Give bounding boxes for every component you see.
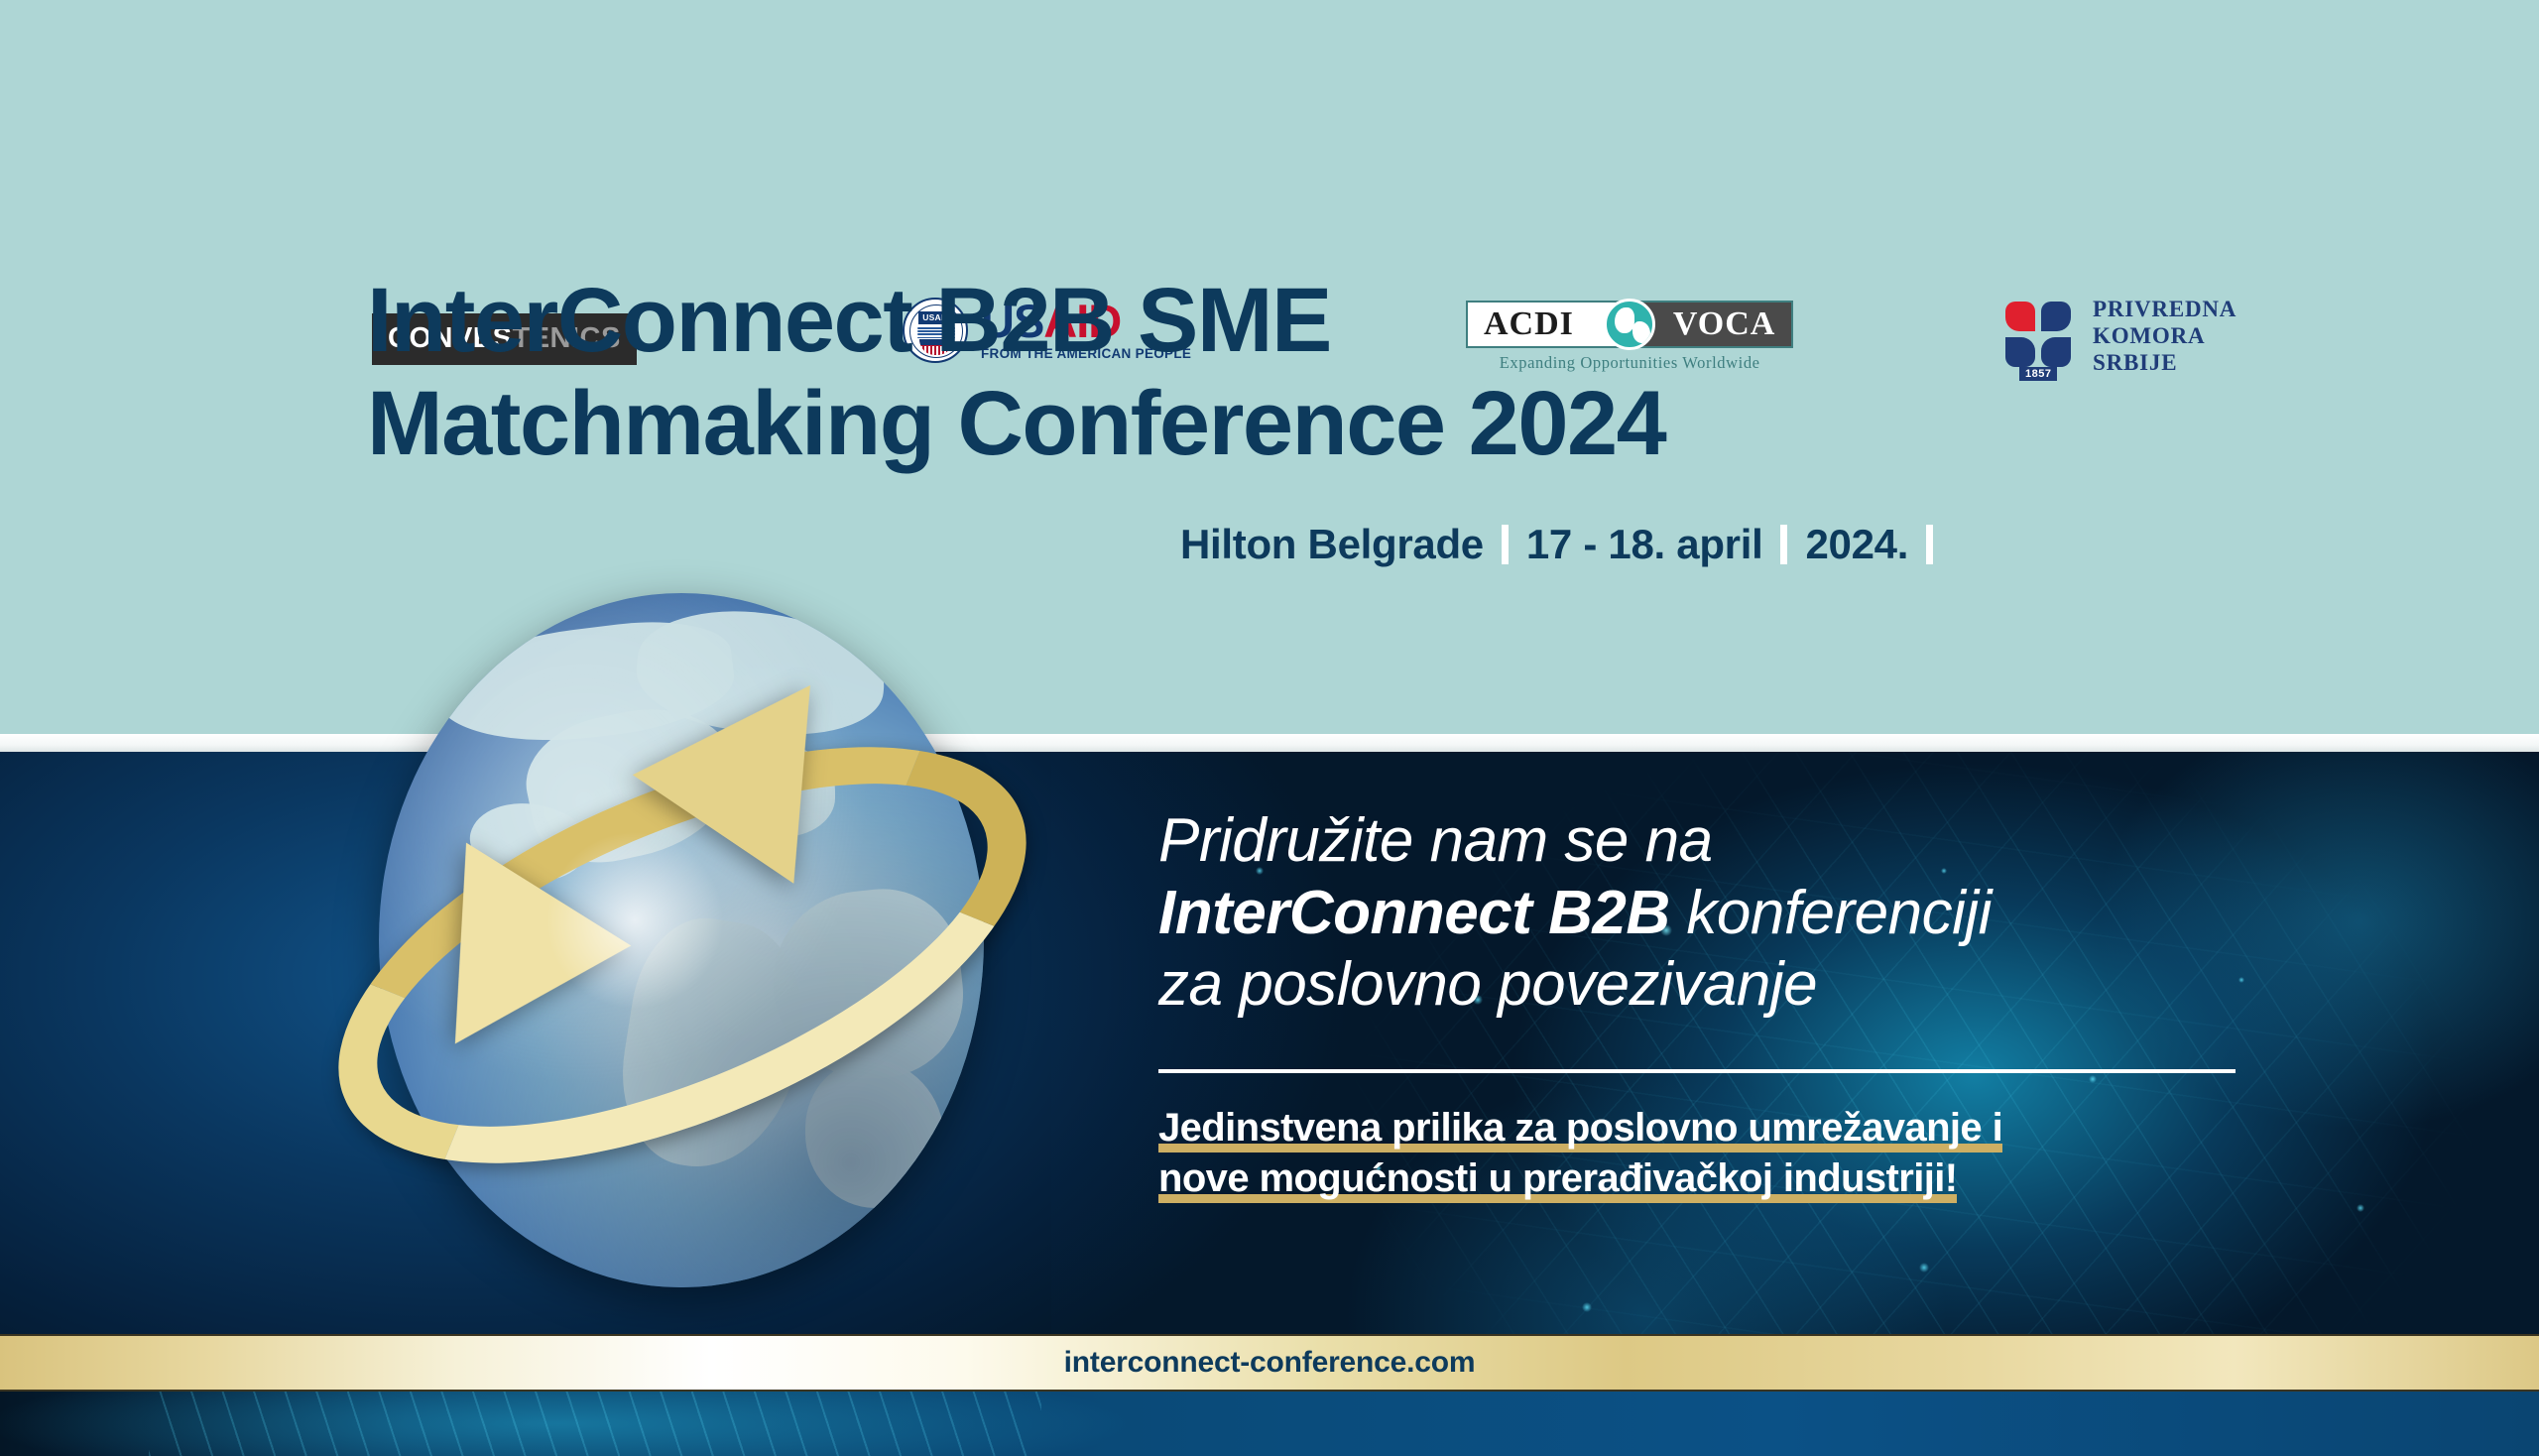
separator-1 [1502,525,1509,564]
event-year: 2024. [1805,521,1908,568]
event-title: InterConnect B2B SME Matchmaking Confere… [367,270,2251,476]
bottom-network-strip [0,1392,2539,1456]
event-venue: Hilton Belgrade [1180,521,1484,568]
highlight-tagline: Jedinstvena prilika za poslovno umrežava… [1158,1103,2349,1204]
sponsor-logo-row: CONVESTENICS USAID USAID FROM THE AMERIC… [0,147,2539,226]
website-band: interconnect-conference.com [0,1334,2539,1392]
separator-3 [1926,525,1933,564]
website-url[interactable]: interconnect-conference.com [1064,1346,1476,1380]
tagline-line-2: nove mogućnosti u prerađivačkoj industri… [1158,1153,1957,1204]
promo-text: Pridružite nam se na InterConnect B2B ko… [1158,805,2349,1022]
separator-2 [1780,525,1787,564]
promo-line-2-brand: InterConnect B2B [1158,879,1670,947]
conference-banner: CONVESTENICS USAID USAID FROM THE AMERIC… [0,0,2539,1456]
ribbon-sheen [545,831,724,1010]
event-details: Hilton Belgrade 17 - 18. april 2024. [1180,521,1951,568]
promo-line-2-rest: konferenciji [1670,879,1992,947]
promo-line-1: Pridružite nam se na [1158,805,2349,878]
event-title-line2: Matchmaking Conference 2024 [367,373,2251,476]
event-title-line1: InterConnect B2B SME [367,270,2251,373]
horizontal-rule [1158,1069,2236,1073]
event-dates: 17 - 18. april [1526,521,1763,568]
promo-line-3: za poslovno povezivanje [1158,949,2349,1022]
promo-line-2: InterConnect B2B konferenciji [1158,878,2349,950]
globe-graphic [298,583,1071,1297]
tagline-line-1: Jedinstvena prilika za poslovno umrežava… [1158,1103,2002,1153]
